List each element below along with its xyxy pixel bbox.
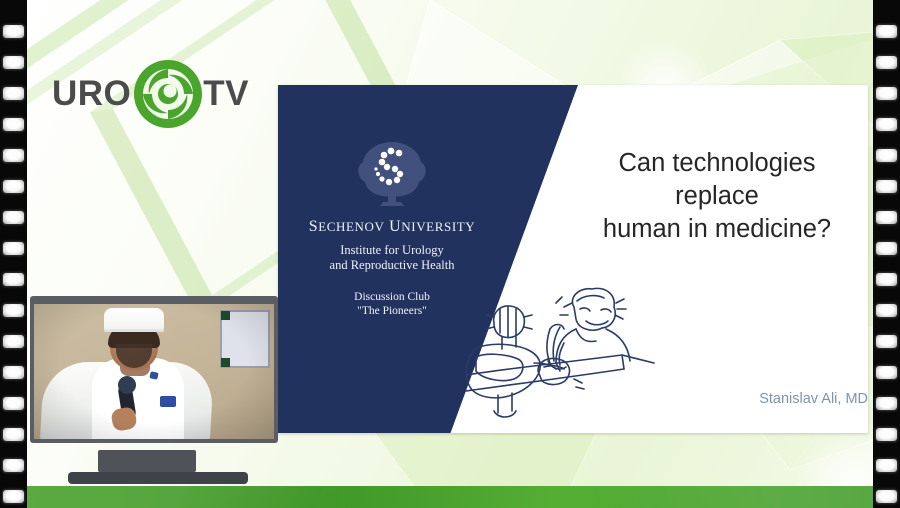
institute-line-2: and Reproductive Health: [278, 258, 506, 273]
film-sprocket-strip-right: [873, 0, 900, 508]
video-vignette: [34, 304, 274, 439]
monitor-stand-neck: [98, 450, 196, 472]
film-sprocket-hole: [876, 149, 897, 162]
film-sprocket-hole: [3, 87, 24, 100]
club-line-2: "The Pioneers": [278, 304, 506, 318]
logo-text-uro: URO: [52, 74, 131, 114]
film-sprocket-hole: [3, 118, 24, 131]
film-sprocket-hole: [876, 211, 897, 224]
film-sprocket-hole: [3, 56, 24, 69]
film-sprocket-hole: [876, 25, 897, 38]
film-sprocket-hole: [3, 211, 24, 224]
film-sprocket-hole: [876, 273, 897, 286]
bottom-green-band: [0, 486, 900, 508]
film-sprocket-hole: [876, 56, 897, 69]
film-sprocket-hole: [3, 242, 24, 255]
institute-line-1: Institute for Urology: [278, 243, 506, 258]
film-sprocket-hole: [3, 459, 24, 472]
film-sprocket-hole: [876, 87, 897, 100]
film-sprocket-hole: [3, 25, 24, 38]
film-sprocket-hole: [3, 428, 24, 441]
film-sprocket-hole: [3, 490, 24, 503]
organization-name: SECHENOV UNIVERSITY: [278, 218, 506, 236]
sechenov-tree-emblem-icon: [278, 140, 506, 208]
slide-title-line-2: human in medicine?: [578, 213, 856, 246]
slide-author: Stanislav Ali, MD: [618, 391, 868, 407]
webcam-video-feed[interactable]: [34, 304, 274, 439]
film-sprocket-hole: [876, 242, 897, 255]
film-sprocket-hole: [876, 366, 897, 379]
film-sprocket-hole: [3, 304, 24, 317]
film-sprocket-hole: [876, 397, 897, 410]
film-sprocket-hole: [3, 397, 24, 410]
bottom-green-band-highlight: [0, 486, 900, 508]
slide-title-line-1: Can technologies replace: [578, 147, 856, 213]
film-sprocket-hole: [876, 335, 897, 348]
film-sprocket-hole: [876, 180, 897, 193]
organization-block: SECHENOV UNIVERSITY Institute for Urolog…: [278, 140, 506, 318]
webcam-monitor[interactable]: [30, 296, 278, 486]
film-sprocket-hole: [3, 149, 24, 162]
slide-title: Can technologies replace human in medici…: [578, 147, 856, 246]
video-frame-stage: URO TV: [0, 0, 900, 508]
urotv-logo: URO TV: [52, 52, 252, 136]
film-sprocket-hole: [876, 304, 897, 317]
film-sprocket-hole: [876, 428, 897, 441]
film-sprocket-strip-left: [0, 0, 27, 508]
presentation-slide: SECHENOV UNIVERSITY Institute for Urolog…: [278, 85, 868, 433]
logo-text-tv: TV: [203, 74, 249, 114]
monitor-stand-base: [68, 472, 248, 484]
film-sprocket-hole: [3, 273, 24, 286]
film-sprocket-hole: [3, 366, 24, 379]
film-sprocket-hole: [876, 459, 897, 472]
film-sprocket-hole: [876, 490, 897, 503]
club-line-1: Discussion Club: [278, 290, 506, 304]
film-sprocket-hole: [3, 180, 24, 193]
film-sprocket-hole: [876, 118, 897, 131]
film-sprocket-hole: [3, 335, 24, 348]
green-swirl-leaf-circle-icon: [129, 55, 207, 133]
